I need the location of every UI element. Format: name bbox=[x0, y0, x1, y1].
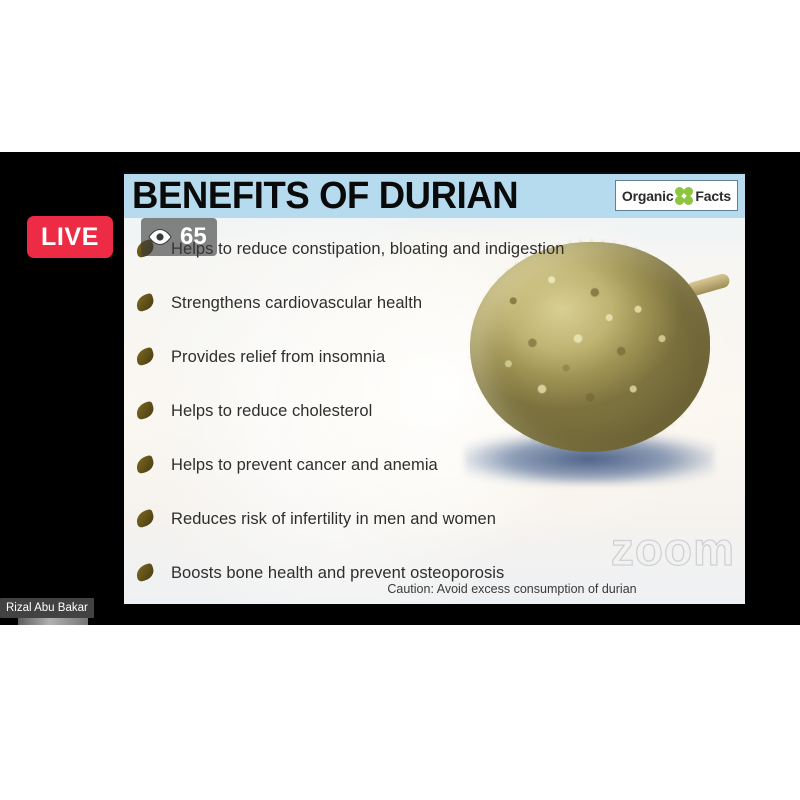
list-item: Reduces risk of infertility in men and w… bbox=[128, 492, 648, 546]
page-title: BENEFITS OF DURIAN bbox=[132, 174, 518, 218]
logo-word-facts: Facts bbox=[695, 188, 731, 204]
leaf-bullet-icon bbox=[133, 563, 157, 583]
viewer-count: 65 bbox=[180, 225, 207, 249]
list-item-label: Provides relief from insomnia bbox=[171, 348, 385, 367]
participant-name-label: Rizal Abu Bakar bbox=[0, 598, 94, 618]
list-item: Helps to reduce cholesterol bbox=[128, 384, 648, 438]
live-badge: LIVE bbox=[27, 216, 113, 258]
caution-note: Caution: Avoid excess consumption of dur… bbox=[302, 582, 722, 596]
eye-icon bbox=[147, 228, 173, 246]
leaf-bullet-icon bbox=[133, 293, 157, 313]
list-item-label: Helps to reduce constipation, bloating a… bbox=[171, 240, 564, 259]
video-player[interactable]: BENEFITS OF DURIAN Organic Facts Helps t… bbox=[0, 152, 800, 625]
list-item-label: Boosts bone health and prevent osteoporo… bbox=[171, 564, 504, 583]
shared-slide: BENEFITS OF DURIAN Organic Facts Helps t… bbox=[124, 172, 745, 604]
benefits-list: Helps to reduce constipation, bloating a… bbox=[128, 222, 648, 600]
viewer-count-pill: 65 bbox=[141, 218, 217, 256]
list-item: Provides relief from insomnia bbox=[128, 330, 648, 384]
list-item-label: Strengthens cardiovascular health bbox=[171, 294, 422, 313]
participant-thumbnail-strip bbox=[18, 618, 88, 625]
zoom-watermark: zoom bbox=[611, 522, 735, 576]
list-item-label: Helps to prevent cancer and anemia bbox=[171, 456, 438, 475]
clover-icon bbox=[675, 187, 693, 205]
organic-facts-logo: Organic Facts bbox=[615, 180, 738, 211]
participant-name: Rizal Abu Bakar bbox=[6, 602, 88, 614]
slide-title-band: BENEFITS OF DURIAN Organic Facts bbox=[124, 172, 745, 218]
list-item-label: Reduces risk of infertility in men and w… bbox=[171, 510, 496, 529]
list-item-label: Helps to reduce cholesterol bbox=[171, 402, 372, 421]
leaf-bullet-icon bbox=[133, 455, 157, 475]
list-item: Strengthens cardiovascular health bbox=[128, 276, 648, 330]
leaf-bullet-icon bbox=[133, 509, 157, 529]
list-item: Helps to prevent cancer and anemia bbox=[128, 438, 648, 492]
leaf-bullet-icon bbox=[133, 401, 157, 421]
leaf-bullet-icon bbox=[133, 347, 157, 367]
live-label: LIVE bbox=[41, 223, 99, 252]
logo-word-organic: Organic bbox=[622, 188, 674, 204]
